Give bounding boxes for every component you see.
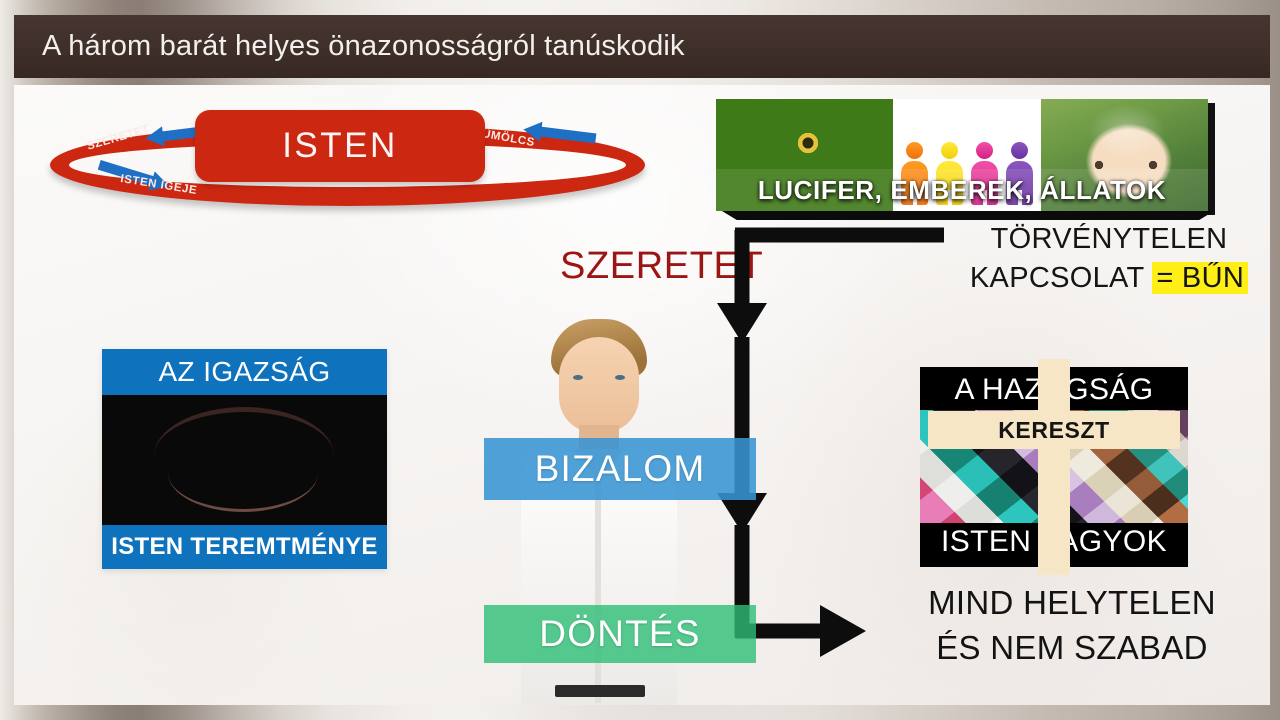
banner-drop-shadow xyxy=(722,211,1214,220)
slide-canvas: SZERETET ISTEN IGÉJE GYÜMÖLCS ISTEN LUCI… xyxy=(14,85,1270,705)
cross-horizontal-icon: KERESZT xyxy=(928,411,1180,449)
cross-panel: A HAZUGSÁG ISTEN VAGYOK KERESZT xyxy=(920,367,1188,567)
photo-face xyxy=(559,337,639,433)
human-eye-image xyxy=(102,395,387,525)
truth-panel-footer: ISTEN TEREMTMÉNYE xyxy=(102,525,387,569)
trust-label: BIZALOM xyxy=(535,448,706,490)
decision-band: DÖNTÉS xyxy=(484,605,756,663)
photo-eye-left xyxy=(573,375,583,380)
lawless-line-1: TÖRVÉNYTELEN xyxy=(964,220,1254,259)
lawless-highlight: = BŰN xyxy=(1152,262,1248,294)
banner-right-edge xyxy=(1208,103,1215,215)
lawless-line-2: KAPCSOLAT = BŰN xyxy=(964,259,1254,298)
truth-panel-header: AZ IGAZSÁG xyxy=(102,349,387,395)
verdict-line-1: MIND HELYTELEN xyxy=(902,580,1242,625)
cross-label: KERESZT xyxy=(998,417,1110,444)
photo-eye-right xyxy=(615,375,625,380)
verdict-line-2: ÉS NEM SZABAD xyxy=(902,625,1242,670)
decision-label: DÖNTÉS xyxy=(539,613,700,655)
lawless-relationship-text: TÖRVÉNYTELEN KAPCSOLAT = BŰN xyxy=(964,220,1254,298)
verdict-text: MIND HELYTELEN ÉS NEM SZABAD xyxy=(902,580,1242,670)
banner-caption-strip: LUCIFER, EMBEREK, ÁLLATOK xyxy=(716,169,1208,211)
love-label: SZERETET xyxy=(560,245,763,288)
slide-title-bar: A három barát helyes önazonosságról tanú… xyxy=(14,15,1270,78)
banner-caption: LUCIFER, EMBEREK, ÁLLATOK xyxy=(758,175,1166,206)
god-cycle-diagram: SZERETET ISTEN IGÉJE GYÜMÖLCS ISTEN xyxy=(40,105,660,220)
trust-band: BIZALOM xyxy=(484,438,756,500)
page-title: A három barát helyes önazonosságról tanú… xyxy=(42,30,685,63)
truth-panel: AZ IGAZSÁG ISTEN TEREMTMÉNYE xyxy=(102,349,387,569)
cross-vertical-icon xyxy=(1038,359,1070,575)
beings-banner: LUCIFER, EMBEREK, ÁLLATOK xyxy=(716,99,1208,211)
isten-box: ISTEN xyxy=(195,110,485,182)
photo-belt xyxy=(555,685,645,697)
lawless-line-2-prefix: KAPCSOLAT xyxy=(970,262,1152,294)
isten-label: ISTEN xyxy=(282,126,398,166)
